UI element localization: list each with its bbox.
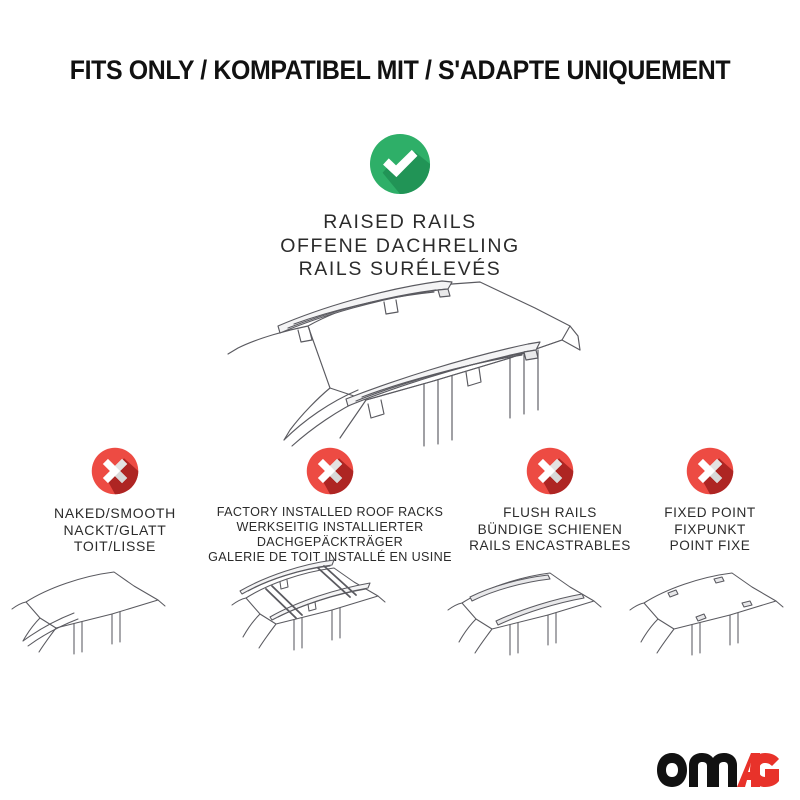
incompatible-label-line-2: WERKSEITIG INSTALLIERTER [200,520,460,535]
compatible-label-line-1: RAISED RAILS [0,211,800,235]
check-circle-icon [369,133,431,195]
incompatible-label-line-1: NAKED/SMOOTH [15,505,215,522]
page-title: FITS ONLY / KOMPATIBEL MIT / S'ADAPTE UN… [24,55,776,86]
cross-circle-icon [91,447,139,495]
car-roof-factory-roof-racks-illustration [222,548,422,668]
car-roof-naked-smooth-illustration [8,562,208,682]
cross-circle-icon [306,447,354,495]
incompatible-label-line-3: POINT FIXE [640,538,780,555]
incompatible-label-line-3: RAILS ENCASTRABLES [455,538,645,555]
incompatible-label-line-2: NACKT/GLATT [15,522,215,539]
car-roof-raised-rails-illustration [180,278,650,458]
omac-logo [656,752,780,788]
cross-circle-icon [686,447,734,495]
incompatible-label-line-1: FIXED POINT [640,505,780,522]
incompatible-item-fixed-point: FIXED POINT FIXPUNKT POINT FIXE [640,447,780,555]
incompatible-item-flush-rails: FLUSH RAILS BÜNDIGE SCHIENEN RAILS ENCAS… [455,447,645,555]
incompatible-label-line-2: FIXPUNKT [640,522,780,539]
incompatible-item-naked-smooth: NAKED/SMOOTH NACKT/GLATT TOIT/LISSE [15,447,215,555]
car-roof-fixed-point-illustration [622,557,800,677]
incompatible-label-line-1: FACTORY INSTALLED ROOF RACKS [200,505,460,520]
incompatible-label: FIXED POINT FIXPUNKT POINT FIXE [640,505,780,555]
cross-circle-icon [526,447,574,495]
incompatible-label: FLUSH RAILS BÜNDIGE SCHIENEN RAILS ENCAS… [455,505,645,555]
compatible-label: RAISED RAILS OFFENE DACHRELING RAILS SUR… [0,211,800,282]
car-roof-flush-rails-illustration [440,557,640,677]
compatible-label-line-2: OFFENE DACHRELING [0,235,800,259]
compatible-block: RAISED RAILS OFFENE DACHRELING RAILS SUR… [0,133,800,282]
incompatible-label: NAKED/SMOOTH NACKT/GLATT TOIT/LISSE [15,505,215,555]
incompatible-label-line-2: BÜNDIGE SCHIENEN [455,522,645,539]
incompatible-label-line-3: TOIT/LISSE [15,538,215,555]
incompatible-label-line-1: FLUSH RAILS [455,505,645,522]
